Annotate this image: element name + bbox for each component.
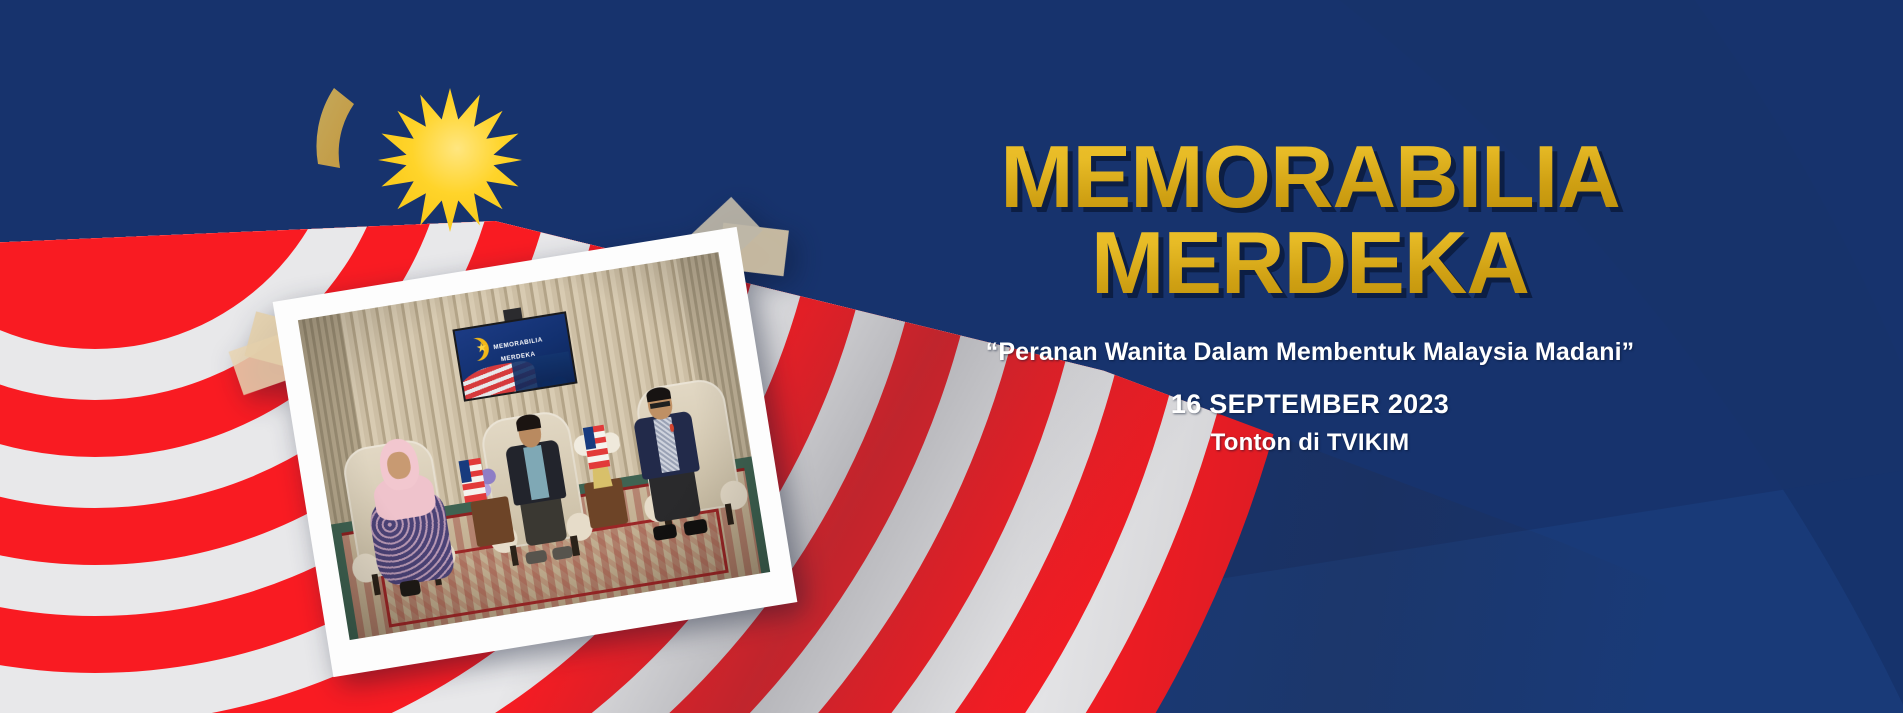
- memorabilia-merdeka-banner: MEMORABILIA MERDEKA “Peranan Wanita Dala…: [0, 0, 1903, 713]
- wooden-side-table-left: [470, 496, 515, 547]
- banner-channel: Tonton di TVIKIM: [760, 429, 1860, 457]
- crescent-star-icon: [292, 42, 542, 272]
- polaroid-photo: MEMORABILIA MERDEKA: [273, 227, 798, 677]
- banner-tagline: “Peranan Wanita Dalam Membentuk Malaysia…: [760, 338, 1860, 367]
- photo-frame-border: MEMORABILIA MERDEKA: [273, 227, 798, 677]
- banner-date: 16 SEPTEMBER 2023: [760, 389, 1860, 420]
- page-title-line-2: MERDEKA: [760, 221, 1860, 305]
- page-title-line-1: MEMORABILIA: [760, 135, 1860, 219]
- banner-text-block: MEMORABILIA MERDEKA “Peranan Wanita Dala…: [760, 135, 1860, 457]
- studio-photograph: MEMORABILIA MERDEKA: [298, 252, 770, 640]
